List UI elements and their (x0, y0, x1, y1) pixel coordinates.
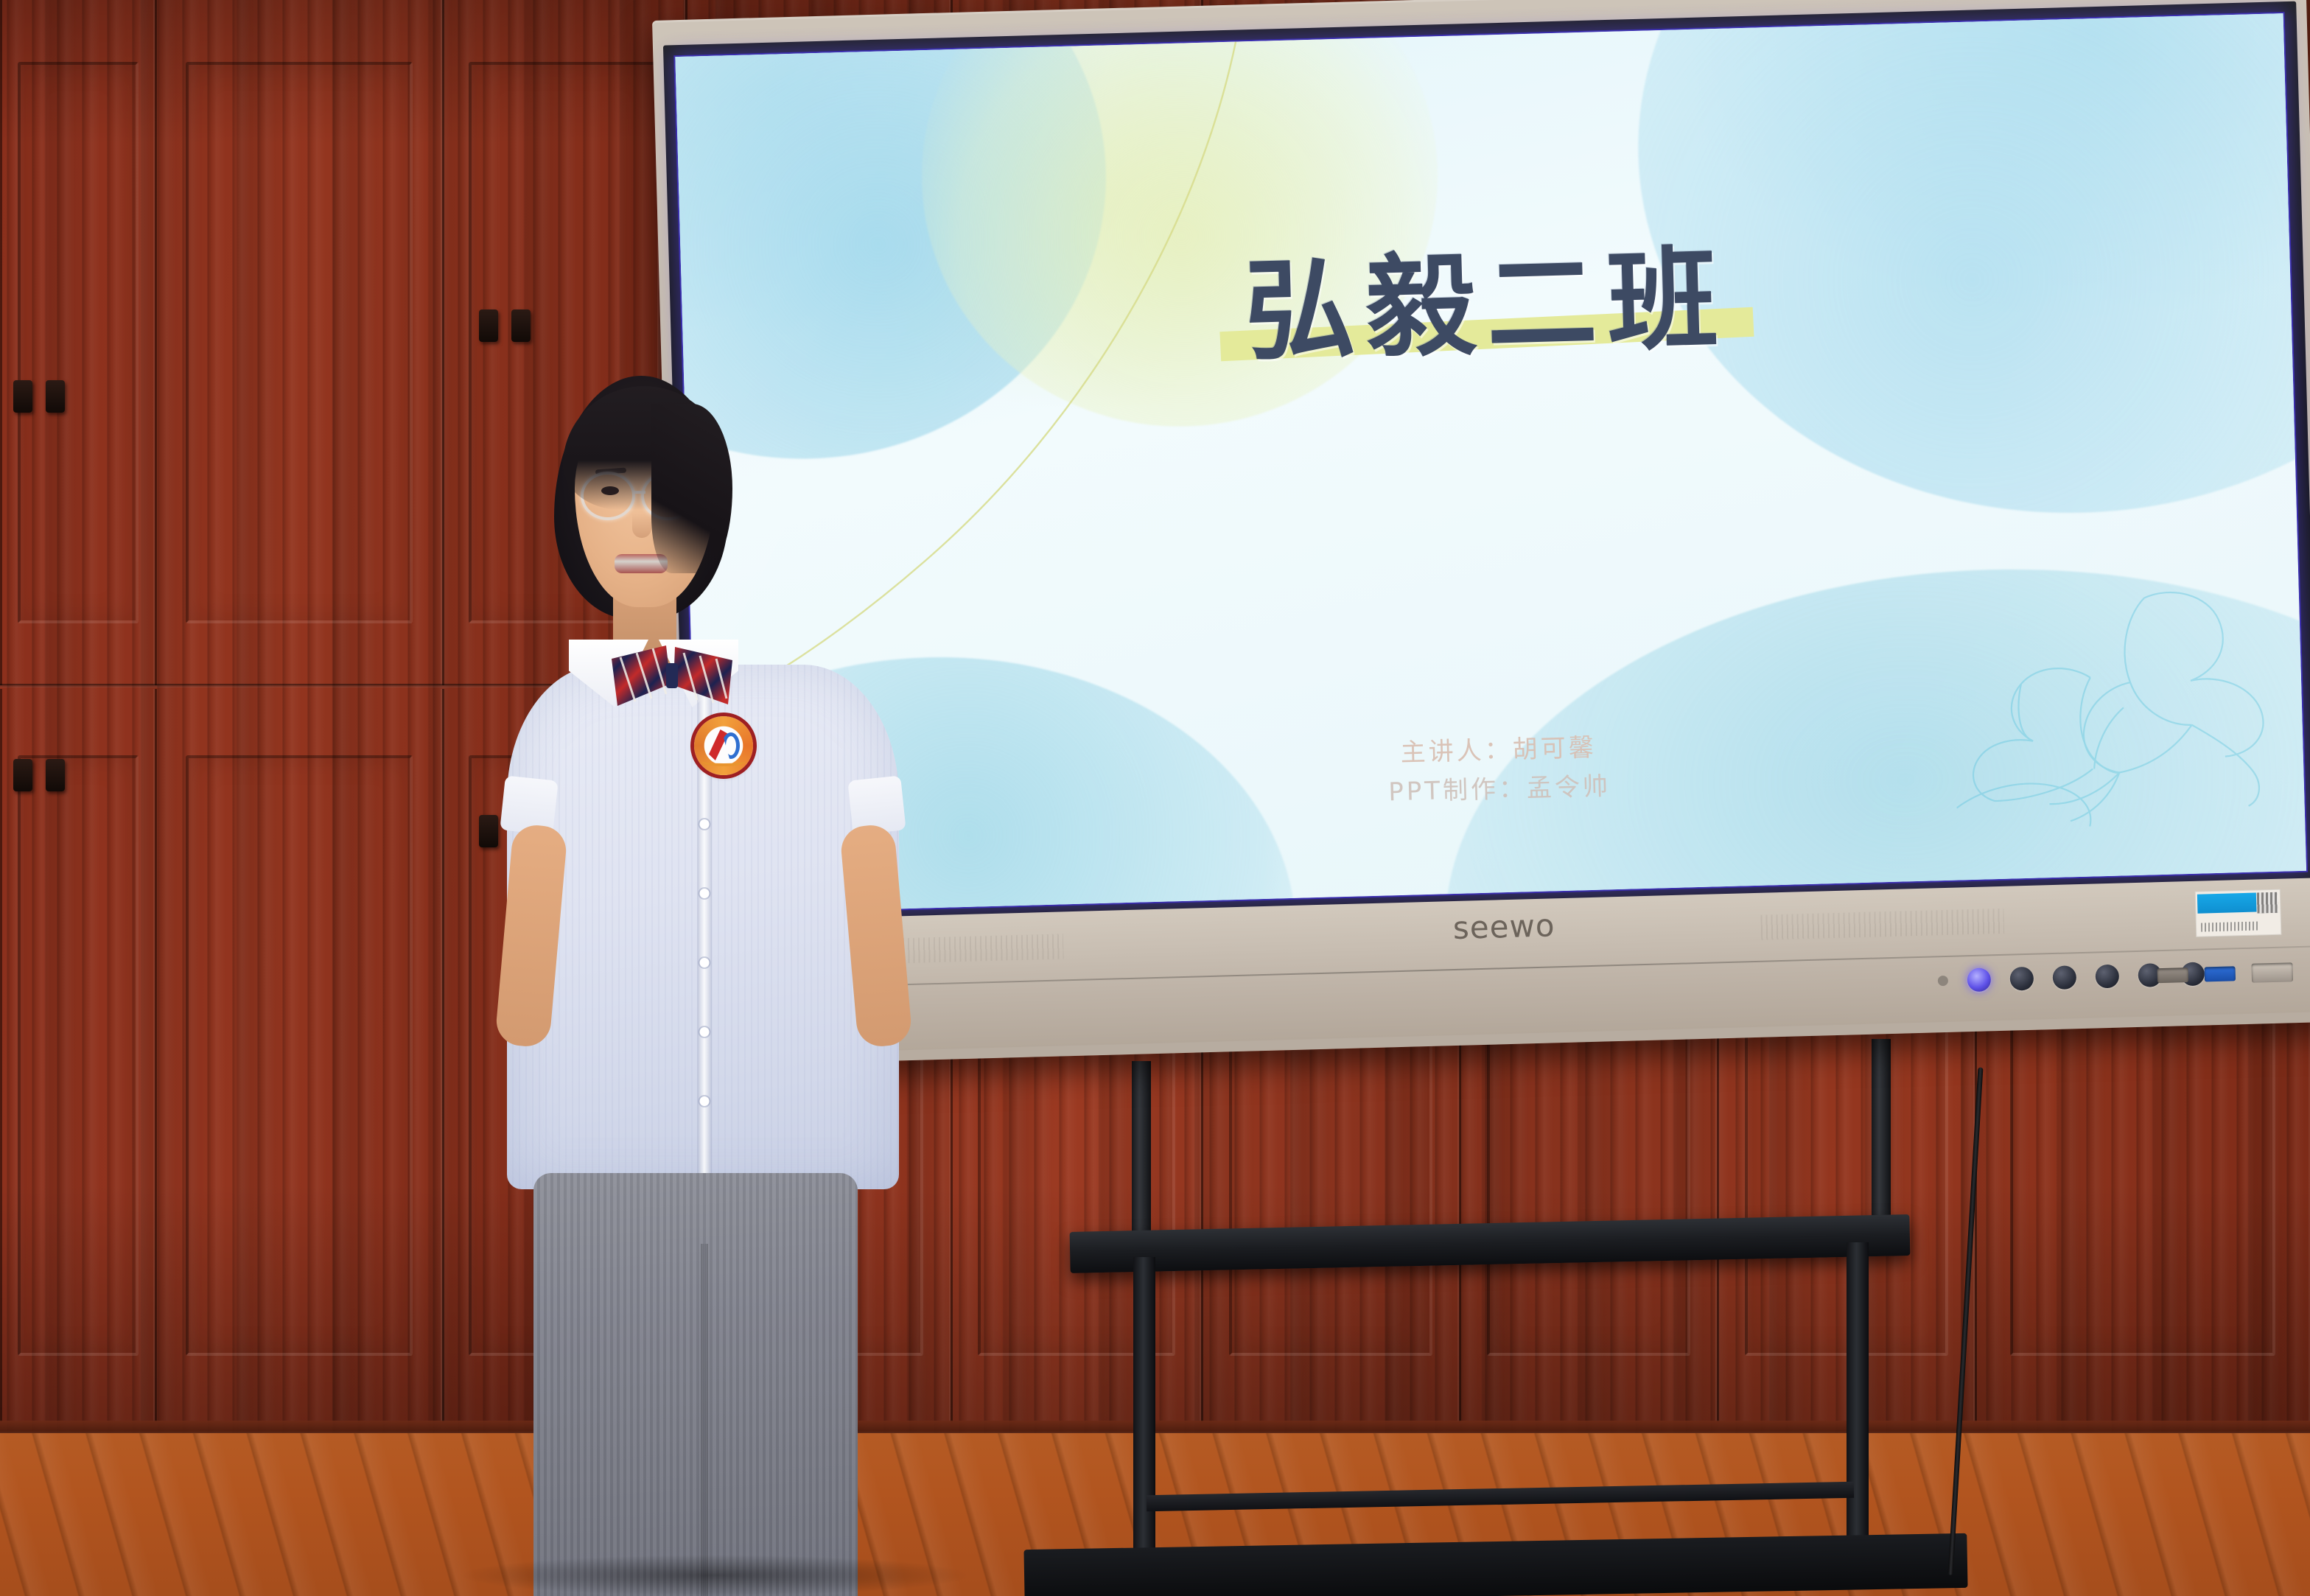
shirt-button (700, 958, 710, 967)
school-badge (694, 716, 753, 775)
photo-scene: 弘毅二班 主讲人：胡可馨 PPT制作：孟令帅 (0, 0, 2310, 1596)
usb-port[interactable] (2205, 966, 2236, 981)
uniform-trousers (533, 1173, 858, 1596)
source-button[interactable] (2095, 965, 2119, 989)
shirt-button (700, 819, 710, 829)
trouser-seam (701, 1244, 708, 1596)
flower-line-art-decoration (1950, 578, 2274, 830)
qr-code-icon (2257, 892, 2278, 914)
shirt-button (700, 1096, 710, 1106)
panel-port-row[interactable] (2157, 962, 2293, 985)
vga-port[interactable] (2251, 962, 2293, 983)
device-spec-sticker (2195, 889, 2282, 937)
speaker-grille-right (1760, 909, 2004, 940)
hair-side-sweep (651, 404, 732, 573)
barcode-icon (2201, 921, 2258, 931)
slide-title: 弘毅二班 (1243, 236, 1729, 377)
bow-tie (607, 641, 737, 719)
menu-button[interactable] (2052, 965, 2076, 990)
floor-shadow (457, 1555, 973, 1596)
sticker-band (2197, 893, 2257, 914)
status-led (1938, 976, 1948, 986)
seewo-brand-logo: seewo (1452, 907, 1555, 946)
nose (632, 513, 651, 538)
shirt-button (700, 1027, 710, 1037)
hdmi-port[interactable] (2157, 967, 2189, 983)
student-presenter (469, 368, 940, 1596)
shirt-button (700, 889, 710, 898)
home-button[interactable] (2009, 967, 2034, 991)
power-button[interactable] (1967, 967, 1991, 992)
